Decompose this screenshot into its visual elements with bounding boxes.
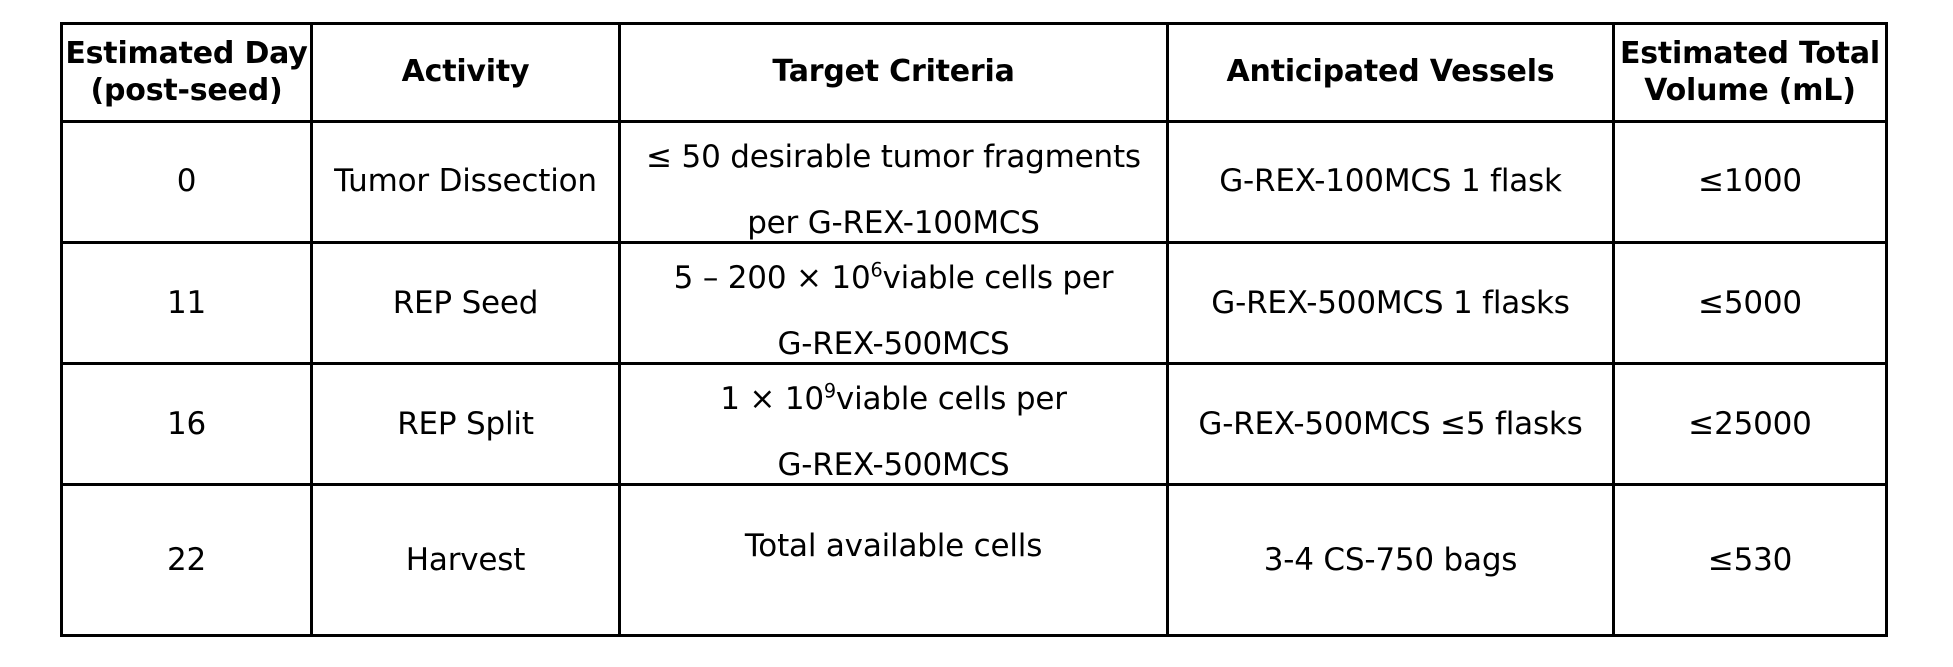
cell-estimated-total-volume: ≤530 bbox=[1614, 485, 1887, 636]
table-header: Estimated Day (post-seed) Activity Targe… bbox=[62, 24, 1887, 122]
criteria-text-block: 1 × 109viable cells per G-REX-500MCS bbox=[621, 365, 1166, 483]
cell-estimated-total-volume: ≤1000 bbox=[1614, 122, 1887, 243]
criteria-text-block: Total available cells bbox=[621, 486, 1166, 634]
criteria-line-2: G-REX-500MCS bbox=[621, 447, 1166, 484]
column-header-activity: Activity bbox=[312, 24, 620, 122]
criteria-line-2: per G-REX-100MCS bbox=[621, 205, 1166, 242]
cell-estimated-day: 0 bbox=[62, 122, 312, 243]
page-canvas: Estimated Day (post-seed) Activity Targe… bbox=[0, 0, 1953, 667]
criteria-line-1: 1 × 109viable cells per bbox=[621, 365, 1166, 418]
header-line-1: Estimated Day bbox=[63, 36, 310, 73]
cell-activity: REP Seed bbox=[312, 243, 620, 364]
table-row: 11 REP Seed 5 – 200 × 106viable cells pe… bbox=[62, 243, 1887, 364]
criteria-mantissa: 1 × 10 bbox=[720, 381, 824, 417]
table-row: 16 REP Split 1 × 109viable cells per G-R… bbox=[62, 364, 1887, 485]
column-header-estimated-day: Estimated Day (post-seed) bbox=[62, 24, 312, 122]
header-line-1: Activity bbox=[313, 54, 618, 91]
cell-estimated-day: 22 bbox=[62, 485, 312, 636]
column-header-anticipated-vessels: Anticipated Vessels bbox=[1168, 24, 1614, 122]
criteria-mantissa: 5 – 200 × 10 bbox=[674, 260, 871, 296]
cell-target-criteria: 5 – 200 × 106viable cells per G-REX-500M… bbox=[620, 243, 1168, 364]
cell-anticipated-vessels: G-REX-500MCS 1 flasks bbox=[1168, 243, 1614, 364]
criteria-exponent: 9 bbox=[824, 380, 836, 403]
cell-estimated-total-volume: ≤5000 bbox=[1614, 243, 1887, 364]
header-line-2: Volume (mL) bbox=[1615, 73, 1885, 110]
header-line-2: (post-seed) bbox=[63, 73, 310, 110]
cell-anticipated-vessels: G-REX-500MCS ≤5 flasks bbox=[1168, 364, 1614, 485]
header-row: Estimated Day (post-seed) Activity Targe… bbox=[62, 24, 1887, 122]
criteria-suffix: viable cells per bbox=[883, 260, 1114, 296]
cell-anticipated-vessels: 3-4 CS-750 bags bbox=[1168, 485, 1614, 636]
cell-anticipated-vessels: G-REX-100MCS 1 flask bbox=[1168, 122, 1614, 243]
process-schedule-table-wrapper: Estimated Day (post-seed) Activity Targe… bbox=[60, 22, 1885, 637]
criteria-exponent: 6 bbox=[870, 259, 882, 282]
column-header-target-criteria: Target Criteria bbox=[620, 24, 1168, 122]
header-line-1: Anticipated Vessels bbox=[1169, 54, 1612, 91]
criteria-text-block: ≤ 50 desirable tumor fragments per G-REX… bbox=[621, 123, 1166, 241]
header-line-1: Estimated Total bbox=[1615, 36, 1885, 73]
cell-target-criteria: ≤ 50 desirable tumor fragments per G-REX… bbox=[620, 122, 1168, 243]
process-schedule-table: Estimated Day (post-seed) Activity Targe… bbox=[60, 22, 1888, 637]
criteria-line-1: Total available cells bbox=[621, 486, 1166, 565]
table-body: 0 Tumor Dissection ≤ 50 desirable tumor … bbox=[62, 122, 1887, 636]
cell-activity: REP Split bbox=[312, 364, 620, 485]
cell-activity: Harvest bbox=[312, 485, 620, 636]
criteria-line-2: G-REX-500MCS bbox=[621, 326, 1166, 363]
column-header-estimated-total-volume: Estimated Total Volume (mL) bbox=[1614, 24, 1887, 122]
cell-estimated-day: 16 bbox=[62, 364, 312, 485]
table-row: 0 Tumor Dissection ≤ 50 desirable tumor … bbox=[62, 122, 1887, 243]
criteria-suffix: viable cells per bbox=[836, 381, 1067, 417]
cell-estimated-day: 11 bbox=[62, 243, 312, 364]
table-row: 22 Harvest Total available cells 3-4 CS-… bbox=[62, 485, 1887, 636]
cell-estimated-total-volume: ≤25000 bbox=[1614, 364, 1887, 485]
cell-target-criteria: 1 × 109viable cells per G-REX-500MCS bbox=[620, 364, 1168, 485]
cell-target-criteria: Total available cells bbox=[620, 485, 1168, 636]
criteria-text-block: 5 – 200 × 106viable cells per G-REX-500M… bbox=[621, 244, 1166, 362]
header-line-1: Target Criteria bbox=[621, 54, 1166, 91]
criteria-line-1: ≤ 50 desirable tumor fragments bbox=[621, 123, 1166, 176]
criteria-line-1: 5 – 200 × 106viable cells per bbox=[621, 244, 1166, 297]
cell-activity: Tumor Dissection bbox=[312, 122, 620, 243]
